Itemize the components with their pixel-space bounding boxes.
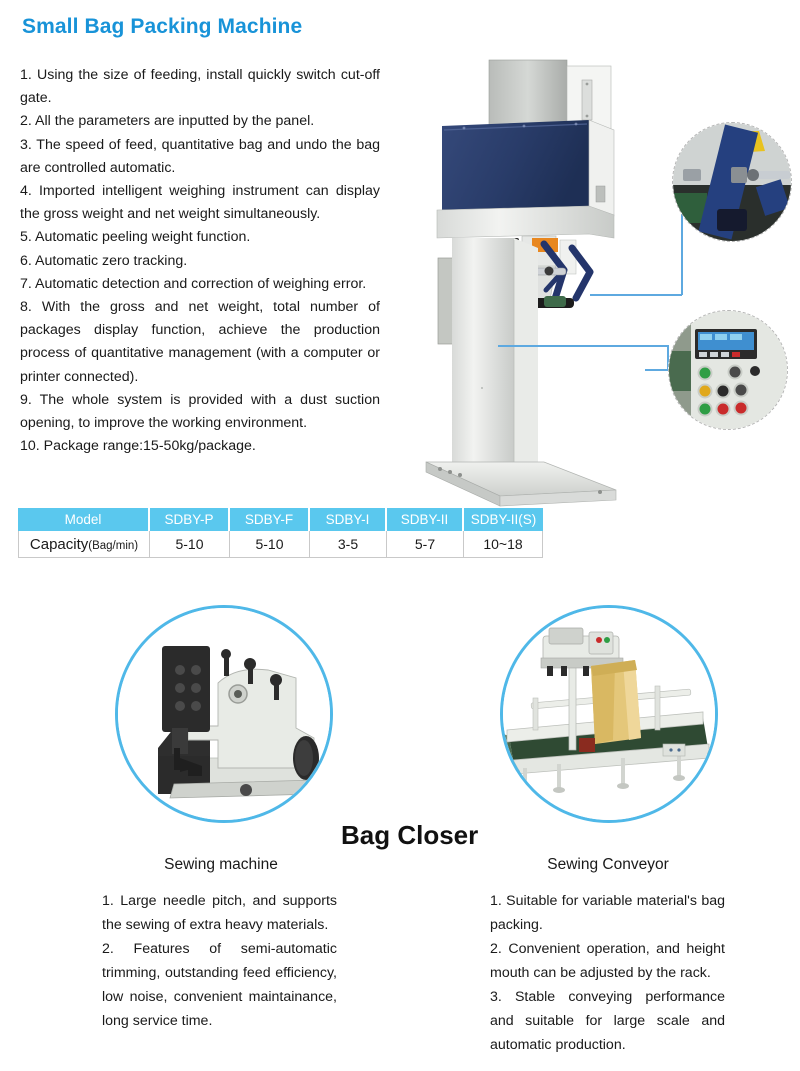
callout-line-clamp-horizontal: [590, 294, 682, 296]
table-header-cell: SDBY-F: [230, 508, 310, 531]
table-header-cell: SDBY-II: [387, 508, 464, 531]
table-header-model: Model: [18, 508, 150, 531]
control-panel-detail-photo: [668, 310, 788, 430]
table-row: Capacity(Bag/min) 5-10 5-10 3-5 5-7 10~1…: [18, 531, 543, 558]
desc-item: 3. Stable conveying performance and suit…: [490, 985, 725, 1057]
desc-item: 1. Large needle pitch, and supports the …: [102, 889, 337, 937]
table-header-cell: SDBY-P: [150, 508, 230, 531]
feature-item: 9. The whole system is provided with a d…: [20, 389, 380, 435]
table-cell: 10~18: [464, 531, 543, 558]
feature-list: 1. Using the size of feeding, install qu…: [20, 64, 380, 458]
table-cell: 5-10: [150, 531, 230, 558]
table-header-row: Model SDBY-P SDBY-F SDBY-I SDBY-II SDBY-…: [18, 508, 543, 531]
table-header-cell: SDBY-I: [310, 508, 387, 531]
specification-table: Model SDBY-P SDBY-F SDBY-I SDBY-II SDBY-…: [18, 508, 543, 558]
sewing-conveyor-photo: [500, 605, 718, 823]
table-cell: 5-7: [387, 531, 464, 558]
feature-item: 4. Imported intelligent weighing instrum…: [20, 180, 380, 226]
desc-item: 1. Suitable for variable material's bag …: [490, 889, 725, 937]
callout-line-panel-bottom: [645, 369, 669, 371]
packing-machine-photo: [404, 58, 654, 508]
caption-sewing-machine: Sewing machine: [101, 856, 341, 874]
sewing-conveyor-description: 1. Suitable for variable material's bag …: [490, 889, 725, 1057]
table-cell: 3-5: [310, 531, 387, 558]
feature-item: 8. With the gross and net weight, total …: [20, 296, 380, 389]
callout-line-panel-horizontal: [498, 345, 668, 347]
table-row-label: Capacity(Bag/min): [18, 531, 150, 558]
caption-sewing-conveyor: Sewing Conveyor: [488, 856, 728, 874]
feature-item: 10. Package range:15-50kg/package.: [20, 435, 380, 458]
capacity-unit: (Bag/min): [88, 540, 138, 552]
feature-item: 5. Automatic peeling weight function.: [20, 226, 380, 249]
bag-clamp-detail-photo: [672, 122, 792, 242]
feature-item: 7. Automatic detection and correction of…: [20, 273, 380, 296]
sewing-machine-description: 1. Large needle pitch, and supports the …: [102, 889, 337, 1033]
desc-item: 2. Convenient operation, and height mout…: [490, 937, 725, 985]
table-cell: 5-10: [230, 531, 310, 558]
desc-item: 2. Features of semi-automatic trimming, …: [102, 937, 337, 1033]
bag-closer-title: Bag Closer: [341, 820, 478, 851]
feature-item: 2. All the parameters are inputted by th…: [20, 110, 380, 133]
feature-item: 3. The speed of feed, quantitative bag a…: [20, 134, 380, 180]
table-header-cell: SDBY-II(S): [464, 508, 543, 531]
feature-item: 1. Using the size of feeding, install qu…: [20, 64, 380, 110]
page-title: Small Bag Packing Machine: [22, 15, 302, 39]
capacity-label: Capacity: [30, 536, 88, 553]
sewing-machine-photo: [115, 605, 333, 823]
feature-item: 6. Automatic zero tracking.: [20, 250, 380, 273]
